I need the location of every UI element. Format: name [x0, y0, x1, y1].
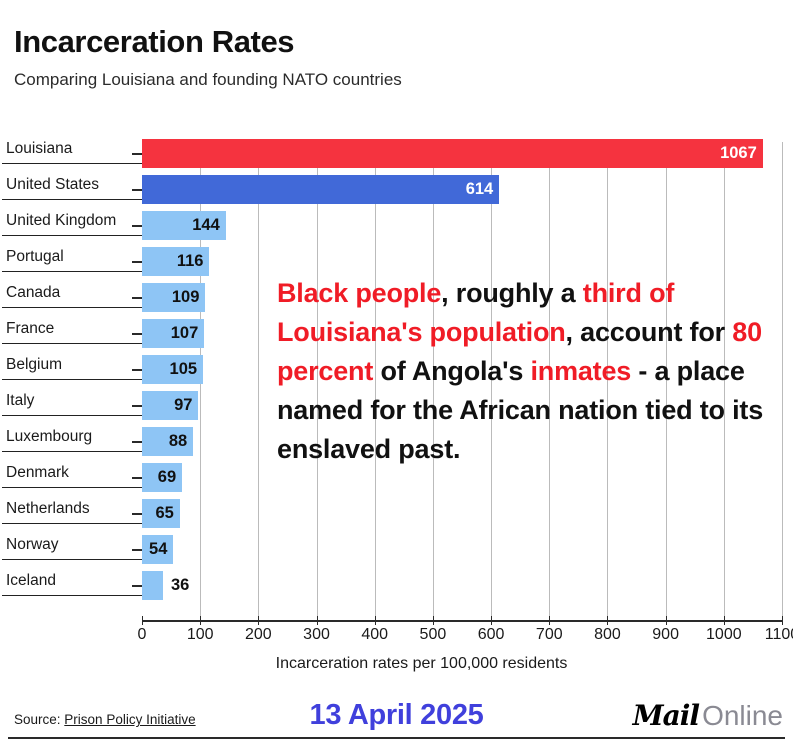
- bar-value-label: 36: [171, 571, 189, 600]
- bar-value-label: 614: [466, 175, 494, 204]
- x-axis-title-text: Incarceration rates per 100,000 resident…: [226, 655, 568, 672]
- bar-value-label: 65: [155, 499, 173, 528]
- bar-container: 105: [142, 355, 203, 384]
- y-axis-tick: [132, 153, 142, 155]
- category-label-rule: [2, 595, 142, 596]
- bar-value-label: 109: [172, 283, 200, 312]
- x-tick-label-100: 100: [187, 626, 214, 644]
- x-tick-mark-500: [433, 616, 434, 625]
- y-axis-tick: [132, 333, 142, 335]
- x-tick-label-1000: 1000: [706, 626, 742, 644]
- x-tick-label-200: 200: [245, 626, 272, 644]
- category-label: Norway: [6, 532, 142, 566]
- category-label: Louisiana: [6, 136, 142, 170]
- annotation-text: , account for: [566, 317, 733, 347]
- category-label-rule: [2, 379, 142, 380]
- bar-value-label: 88: [169, 427, 187, 456]
- category-label: Canada: [6, 280, 142, 314]
- x-tick-label-500: 500: [420, 626, 447, 644]
- bar-row: United States614: [0, 172, 793, 208]
- bar-row: Iceland36: [0, 568, 793, 604]
- category-label: Iceland: [6, 568, 142, 602]
- category-label-rule: [2, 307, 142, 308]
- category-label-rule: [2, 271, 142, 272]
- x-tick-mark-300: [317, 616, 318, 625]
- x-tick-mark-100: [200, 616, 201, 625]
- x-tick-mark-200: [258, 616, 259, 625]
- category-label-rule: [2, 199, 142, 200]
- bar-container: 88: [142, 427, 193, 456]
- logo-online-text: Online: [702, 700, 783, 731]
- bar[interactable]: [142, 139, 763, 168]
- bar-value-label: 1067: [720, 139, 757, 168]
- chart-header: Incarceration Rates Comparing Louisiana …: [14, 24, 779, 90]
- y-axis-tick: [132, 441, 142, 443]
- y-axis-tick: [132, 513, 142, 515]
- x-tick-label-1100: 1100: [765, 626, 793, 644]
- bar-container: 109: [142, 283, 205, 312]
- bar-container: 144: [142, 211, 226, 240]
- category-label: United States: [6, 172, 142, 206]
- y-axis-tick: [132, 369, 142, 371]
- x-tick-mark-600: [491, 616, 492, 625]
- x-tick-label-900: 900: [652, 626, 679, 644]
- bar-value-label: 107: [171, 319, 199, 348]
- category-label: Belgium: [6, 352, 142, 386]
- footer-divider: [8, 737, 785, 739]
- y-axis-tick: [132, 549, 142, 551]
- y-axis-tick: [132, 477, 142, 479]
- bar-value-label: 144: [192, 211, 220, 240]
- category-label: Netherlands: [6, 496, 142, 530]
- bar-container: 614: [142, 175, 499, 204]
- y-axis-tick: [132, 297, 142, 299]
- bar-container: 97: [142, 391, 198, 420]
- bar-value-label: 116: [177, 247, 204, 276]
- x-tick-mark-1000: [724, 616, 725, 625]
- category-label: United Kingdom: [6, 208, 142, 242]
- x-tick-mark-700: [549, 616, 550, 625]
- category-label-rule: [2, 523, 142, 524]
- annotation-text: of Angola's: [373, 356, 530, 386]
- annotation-text: , roughly a: [441, 278, 583, 308]
- bar-row: Netherlands65: [0, 496, 793, 532]
- page-title: Incarceration Rates: [14, 24, 779, 60]
- chart-subtitle: Comparing Louisiana and founding NATO co…: [14, 70, 779, 90]
- x-tick-mark-900: [666, 616, 667, 625]
- category-label-rule: [2, 451, 142, 452]
- y-axis-tick: [132, 585, 142, 587]
- bar-container: 54: [142, 535, 173, 564]
- category-label-rule: [2, 343, 142, 344]
- x-tick-mark-1100: [782, 616, 783, 625]
- x-tick-mark-800: [607, 616, 608, 625]
- x-tick-label-300: 300: [303, 626, 330, 644]
- bar-value-label: 69: [158, 463, 176, 492]
- bar-value-label: 105: [170, 355, 198, 384]
- x-tick-label-0: 0: [138, 626, 147, 644]
- category-label: Denmark: [6, 460, 142, 494]
- bar-row: Norway54: [0, 532, 793, 568]
- x-axis-line: [142, 620, 783, 622]
- bar-value-label: 97: [174, 391, 192, 420]
- annotation-callout: Black people, roughly a third of Louisia…: [277, 274, 777, 469]
- y-axis-tick: [132, 405, 142, 407]
- bar-container: 36: [142, 571, 163, 600]
- bar-row: United Kingdom144: [0, 208, 793, 244]
- y-axis-tick: [132, 189, 142, 191]
- category-label-rule: [2, 235, 142, 236]
- y-axis-tick: [132, 225, 142, 227]
- x-tick-label-700: 700: [536, 626, 563, 644]
- y-axis-tick: [132, 261, 142, 263]
- logo-mail-text: Mail: [633, 699, 699, 732]
- x-tick-mark-0: [142, 616, 143, 625]
- category-label: Portugal: [6, 244, 142, 278]
- bar-container: 107: [142, 319, 204, 348]
- category-label: Luxembourg: [6, 424, 142, 458]
- bar[interactable]: [142, 175, 499, 204]
- bar-container: 1067: [142, 139, 763, 168]
- bar-container: 65: [142, 499, 180, 528]
- category-label-rule: [2, 415, 142, 416]
- x-axis-title: Incarceration rates per 100,000 resident…: [0, 655, 793, 673]
- bar-container: 116: [142, 247, 209, 276]
- x-tick-label-600: 600: [478, 626, 505, 644]
- bar-container: 69: [142, 463, 182, 492]
- x-tick-mark-400: [375, 616, 376, 625]
- category-label-rule: [2, 487, 142, 488]
- x-axis-ticks: 010020030040050060070080090010001100: [0, 626, 793, 652]
- bar-row: Louisiana1067: [0, 136, 793, 172]
- annotation-highlight: inmates: [530, 356, 631, 386]
- category-label: France: [6, 316, 142, 350]
- x-tick-label-800: 800: [594, 626, 621, 644]
- annotation-highlight: Black people: [277, 278, 441, 308]
- bar-value-label: 54: [149, 535, 167, 564]
- bar[interactable]: [142, 571, 163, 600]
- mail-online-logo[interactable]: MailOnline: [633, 700, 783, 732]
- category-label-rule: [2, 163, 142, 164]
- x-tick-label-400: 400: [361, 626, 388, 644]
- category-label: Italy: [6, 388, 142, 422]
- category-label-rule: [2, 559, 142, 560]
